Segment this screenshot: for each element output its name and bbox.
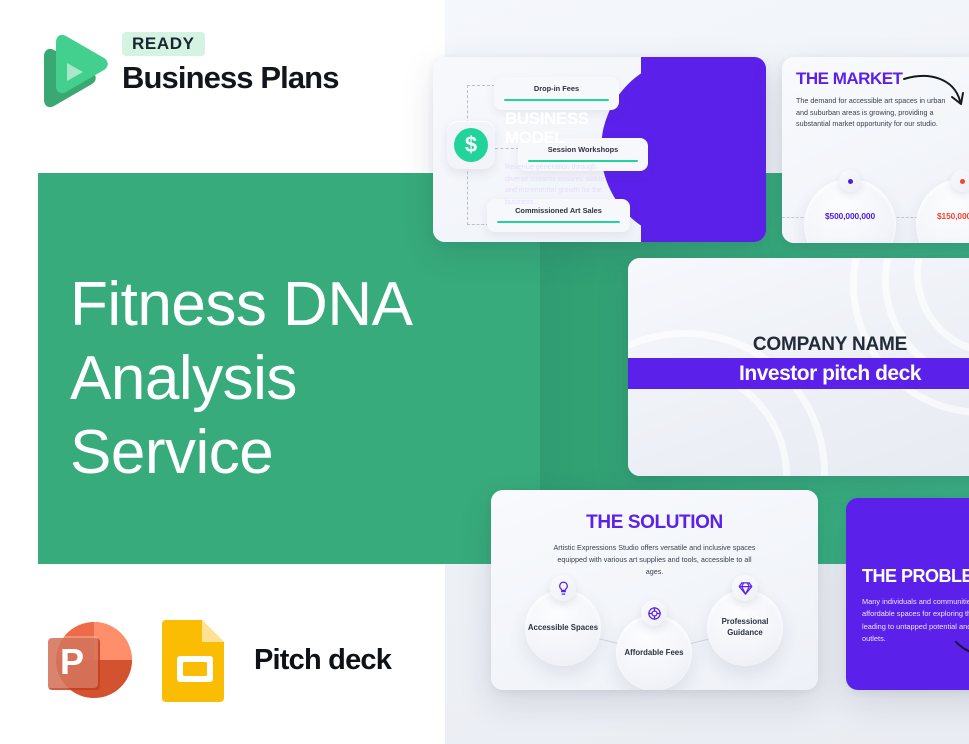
market-metric-bubble	[951, 170, 969, 192]
svg-text:P: P	[60, 641, 84, 682]
solution-node: Affordable Fees	[616, 615, 692, 690]
market-metric-amount: $500,000,000	[804, 211, 896, 221]
poster-canvas: READY Business Plans Fitness DNA Analysi…	[0, 0, 969, 744]
slide-title: THE PROBLEM	[862, 566, 969, 587]
slide-the-market[interactable]: THE MARKET The demand for accessible art…	[782, 57, 969, 243]
slide-description: Artistic Expressions Studio offers versa…	[553, 542, 756, 577]
target-icon	[641, 600, 667, 626]
slide-description: Revenue generation through diverse strea…	[505, 161, 611, 208]
page-title: Fitness DNA Analysis Service	[70, 268, 500, 489]
investor-pitch-label: Investor pitch deck	[739, 362, 921, 386]
dollar-coin-icon: $	[447, 121, 495, 169]
format-label: Pitch deck	[254, 644, 391, 677]
solution-node-label: Accessible Spaces	[528, 623, 598, 634]
investor-pitch-bar: Investor pitch deck	[628, 358, 969, 389]
solution-node-label: Professional Guidance	[707, 617, 783, 639]
solution-node: Professional Guidance	[707, 590, 783, 666]
brand-logo[interactable]: READY Business Plans	[40, 32, 360, 118]
brand-logo-text: READY Business Plans	[122, 32, 362, 95]
slide-title: THE SOLUTION	[491, 512, 818, 534]
slide-description: Many individuals and communities lack ac…	[862, 596, 969, 646]
business-model-purple-block	[641, 57, 766, 242]
format-row: P Pitch deck	[40, 612, 391, 708]
brand-name: Business Plans	[122, 62, 362, 95]
market-metric-amount: $150,000,000	[916, 211, 969, 221]
connector-line	[467, 224, 489, 225]
connector-line	[495, 148, 519, 149]
google-slides-icon[interactable]	[160, 618, 230, 702]
market-metric-bubble	[839, 170, 861, 192]
slide-business-model[interactable]: $ Drop-in Fees Session Workshops Commiss…	[433, 57, 766, 242]
slide-the-problem[interactable]: THE PROBLEM Many individuals and communi…	[846, 498, 969, 690]
revenue-stream-label: Drop-in Fees	[504, 84, 609, 93]
company-name-title: COMPANY NAME	[628, 334, 969, 356]
slide-title: BUSINESS MODEL	[505, 109, 605, 147]
slide-the-solution[interactable]: THE SOLUTION Artistic Expressions Studio…	[491, 490, 818, 690]
diamond-icon	[732, 575, 758, 601]
ready-badge: READY	[122, 32, 205, 56]
slide-company-name[interactable]: COMPANY NAME Investor pitch deck	[628, 258, 969, 476]
powerpoint-icon[interactable]: P	[40, 612, 136, 708]
lightbulb-icon	[550, 575, 576, 601]
solution-node-label: Affordable Fees	[625, 648, 684, 659]
curved-arrow-icon	[902, 71, 969, 113]
solution-node: Accessible Spaces	[525, 590, 601, 666]
connector-line	[467, 85, 495, 86]
double-play-triangle-logo	[40, 34, 108, 114]
curved-arrow-icon	[954, 638, 969, 668]
revenue-stream-item: Drop-in Fees	[494, 77, 619, 110]
slide-title: THE MARKET	[796, 69, 902, 89]
